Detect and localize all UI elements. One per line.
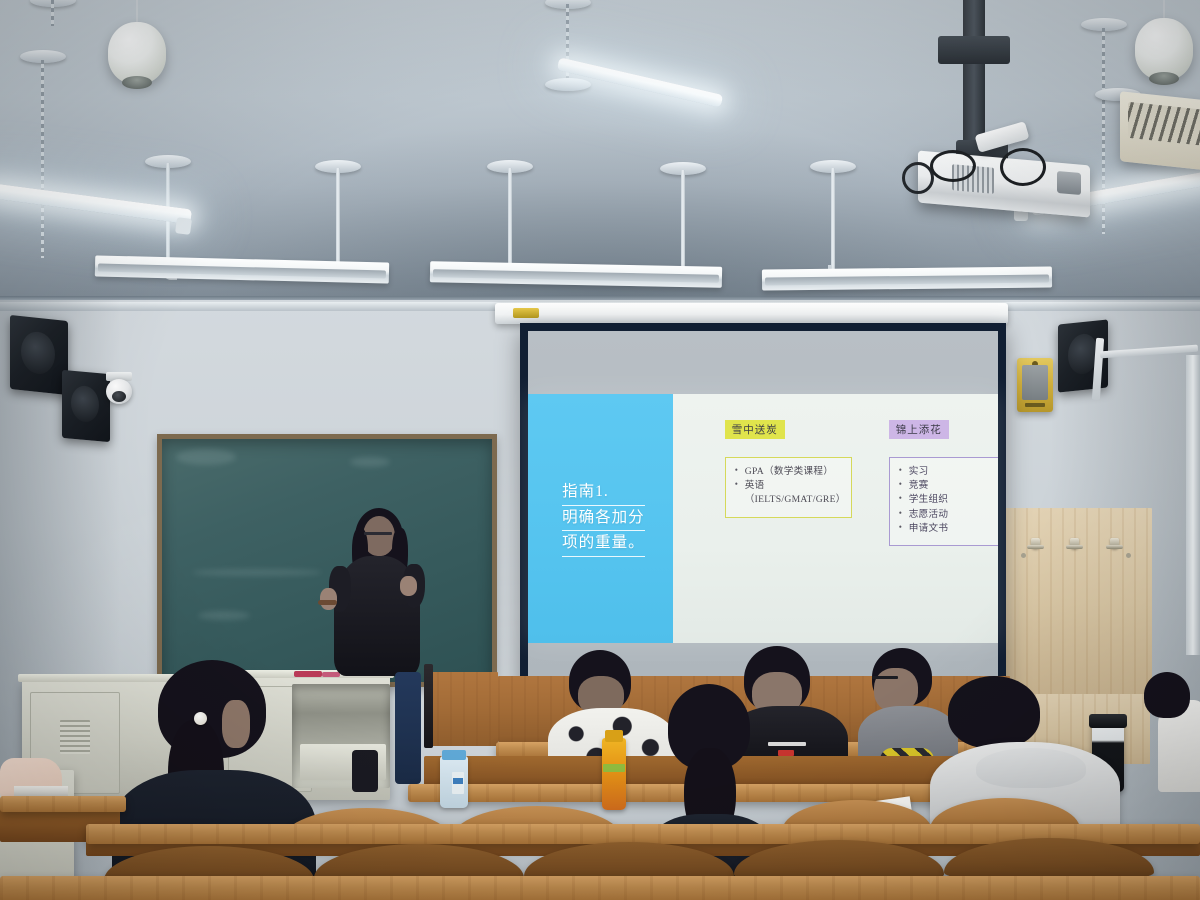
- projector-cable: [1000, 148, 1046, 186]
- bottle-cap: [605, 730, 623, 742]
- tube-end-cap: [175, 217, 192, 235]
- chain-hanger: [41, 60, 44, 258]
- light-hanger-rod: [831, 168, 835, 270]
- presenter-bracelet: [318, 600, 337, 605]
- presenter-hand-left: [320, 588, 337, 610]
- wall-speaker: [62, 370, 110, 442]
- student-hair: [1144, 672, 1190, 718]
- desk-surface: [0, 876, 1200, 900]
- marker-on-cabinet: [322, 672, 340, 677]
- screen-surface: 指南1. 明确各加分 项的重量。 雪中送炭 GPA（数学类课程） 英语（IELT…: [528, 331, 998, 684]
- orange-drink-bottle: [602, 738, 626, 810]
- slide-title-line-3: 项的重量。: [562, 531, 645, 557]
- door-frame: [1186, 355, 1200, 655]
- coat-hook-board: [1002, 508, 1152, 698]
- globe-pendant-lamp: [1135, 18, 1193, 80]
- hair-tie: [194, 712, 207, 725]
- notebook: [14, 786, 68, 796]
- column-heading-essential: 雪中送炭: [725, 420, 785, 439]
- list-item: 申请文书: [898, 522, 998, 536]
- lamp-wire: [1163, 0, 1165, 18]
- room-post: [424, 664, 433, 748]
- screen-housing[interactable]: [495, 303, 1008, 324]
- student-glasses: [872, 676, 898, 679]
- list-item: 志愿活动: [898, 508, 998, 522]
- bottle-label: [603, 764, 625, 772]
- student-hair: [948, 676, 1040, 748]
- wall-speaker: [10, 315, 68, 395]
- projector-mount-collar: [938, 36, 1010, 64]
- projector-lens: [1057, 171, 1081, 195]
- blackboard: [157, 434, 497, 687]
- slide-left-panel: 指南1. 明确各加分 项的重量。: [528, 394, 673, 643]
- list-item: 英语（IELTS/GMAT/GRE）: [734, 479, 843, 507]
- slide-title-line-2: 明确各加分: [562, 506, 645, 532]
- list-item: 实习: [898, 465, 998, 479]
- light-hanger-rod: [681, 170, 685, 272]
- slide-column-bonus: 锦上添花 实习 竞赛 学生组织 志愿活动 申请文书: [889, 420, 998, 546]
- board-screw: [1021, 553, 1026, 558]
- presenter-leg: [352, 750, 378, 792]
- board-screw: [1126, 553, 1131, 558]
- light-hanger-rod: [336, 168, 340, 272]
- coat-hook: [1031, 538, 1040, 549]
- light-reflector-trough: [762, 266, 1052, 290]
- list-item: 竞赛: [898, 479, 998, 493]
- column-heading-bonus: 锦上添花: [889, 420, 949, 439]
- chain-hanger: [566, 4, 569, 88]
- wall-wainscot: [424, 672, 498, 746]
- student-neck: [222, 700, 250, 748]
- marker-on-cabinet: [294, 671, 322, 677]
- presenter-glasses: [364, 532, 392, 535]
- projector-cable: [930, 150, 976, 182]
- hoodie-hood: [976, 748, 1086, 788]
- bottle-label-stripe: [453, 778, 463, 784]
- list-item: 学生组织: [898, 493, 998, 507]
- coat-hook: [1070, 538, 1079, 549]
- alarm-control-box: [1017, 358, 1053, 412]
- chain-rosette: [545, 78, 591, 91]
- projection-screen: 指南1. 明确各加分 项的重量。 雪中送炭 GPA（数学类课程） 英语（IELT…: [520, 323, 1006, 692]
- chain-hanger: [51, 0, 54, 26]
- list-item: GPA（数学类课程）: [734, 465, 843, 479]
- lamp-wire: [136, 0, 138, 22]
- presenter-legs: [395, 672, 421, 784]
- desk-surface: [0, 796, 126, 812]
- housing-label: [513, 308, 539, 318]
- light-hanger-rod: [508, 168, 512, 272]
- dome-security-camera: [106, 379, 132, 404]
- column-box-essential: GPA（数学类课程） 英语（IELTS/GMAT/GRE）: [725, 457, 852, 518]
- globe-pendant-lamp: [108, 22, 166, 84]
- coat-hook: [1110, 538, 1119, 549]
- presenter-hand-right: [400, 576, 417, 596]
- slide-right-panel: 雪中送炭 GPA（数学类课程） 英语（IELTS/GMAT/GRE） 锦上添花: [673, 394, 998, 643]
- projected-slide: 指南1. 明确各加分 项的重量。 雪中送炭 GPA（数学类课程） 英语（IELT…: [528, 394, 998, 643]
- bottle-cap: [442, 750, 466, 760]
- slide-title-line-1: 指南1.: [562, 480, 645, 506]
- thermos-cap: [1089, 714, 1127, 728]
- slide-column-essential: 雪中送炭 GPA（数学类课程） 英语（IELTS/GMAT/GRE）: [725, 420, 852, 518]
- classroom-photo: 指南1. 明确各加分 项的重量。 雪中送炭 GPA（数学类课程） 英语（IELT…: [0, 0, 1200, 900]
- shirt-print: [768, 742, 806, 746]
- column-box-bonus: 实习 竞赛 学生组织 志愿活动 申请文书: [889, 457, 998, 546]
- slide-title: 指南1. 明确各加分 项的重量。: [556, 480, 645, 557]
